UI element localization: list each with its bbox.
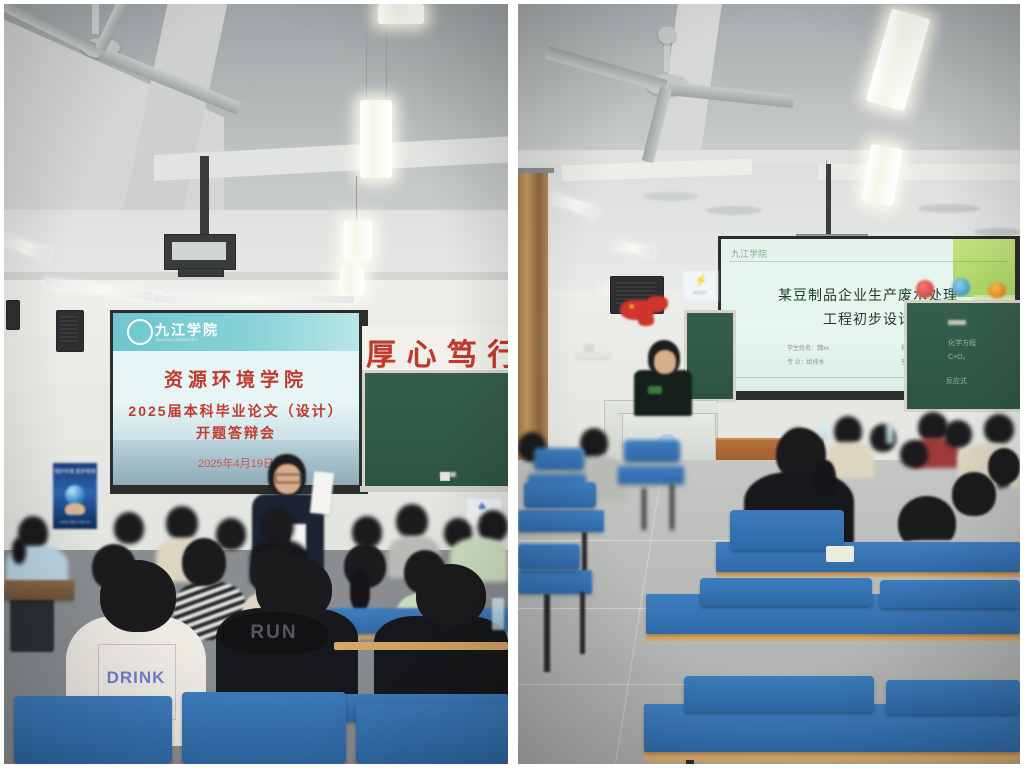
fan-hub-right-top	[658, 26, 676, 44]
projector-pole-right	[826, 164, 831, 238]
sticker-cartoon-orange	[988, 282, 1006, 298]
ceiling-beam-r4	[818, 164, 1020, 180]
r-desk-far-3	[518, 510, 604, 532]
r-desk-leg-1	[670, 484, 674, 530]
hanging-tube-light-1	[360, 100, 392, 178]
r-desk-far-2	[618, 466, 684, 484]
fan-rod	[92, 4, 99, 34]
window-curtain	[518, 170, 548, 460]
r-chair-far-3	[524, 482, 596, 508]
projector-lens-panel	[172, 242, 226, 260]
chair-front-3	[356, 704, 508, 764]
slide-right-meta-l1: 学生姓名：魏xx	[787, 343, 829, 352]
cap-text: RUN	[220, 622, 328, 644]
blackboard-chalk-text: ·	[372, 424, 374, 431]
china-map-east	[646, 296, 668, 312]
china-map-south	[638, 314, 654, 326]
r-audience-head-7	[944, 420, 972, 448]
audience-head-far-5	[260, 508, 294, 544]
audience-head-far-2	[114, 512, 144, 544]
blackboard-chalk-right-1: 化学方程	[948, 338, 976, 348]
slide-right-rule-top	[729, 261, 1007, 262]
r-chair-near-2b	[880, 580, 1020, 608]
hanging-tube-light-3	[340, 266, 364, 294]
shelf-cup	[584, 344, 594, 353]
slide-logo-subtext: JIUJIANG UNIVERSITY	[155, 337, 198, 342]
speaker-grill-left	[60, 316, 78, 344]
distant-fan-2	[706, 206, 762, 215]
r-audience-head-mid-3	[952, 472, 996, 516]
poster-url: www.hjbh.edu.cn	[53, 519, 97, 524]
projector-pole	[200, 156, 209, 234]
r-desk-leg-2	[642, 488, 646, 530]
light-wire-3	[356, 176, 357, 224]
jacket-text-line1: DRINK	[98, 668, 174, 688]
slide-logo-mark	[127, 319, 153, 345]
poster-title: 保护环境 爱护地球	[53, 468, 97, 475]
projector-mount-foot	[178, 268, 224, 277]
r-chair-far-2	[624, 440, 680, 462]
r-desk-far-4	[518, 570, 592, 594]
audience-head-front-right	[416, 564, 486, 626]
desk-edge-front-1	[334, 642, 508, 650]
light-wire-1	[366, 4, 367, 100]
audience-head-mid-2	[182, 538, 226, 586]
blackboard-eraser-right	[948, 320, 966, 325]
poster-hands	[65, 503, 85, 515]
side-desk-left	[4, 580, 74, 600]
blackboard-chalk-right-2: C+O₂	[948, 354, 965, 361]
audience-body-front-right	[374, 616, 508, 702]
sports-poster-mark: ⚡	[694, 274, 708, 287]
slide-line2: 2025届本科毕业论文（设计）	[113, 401, 359, 421]
slide-right-meta-l2: 专 业：给排水	[787, 357, 825, 366]
projection-screen: 九江学院 JIUJIANG UNIVERSITY 资源环境学院 2025届本科毕…	[113, 313, 359, 485]
wall-shelf	[576, 352, 610, 358]
blackboard-chalk-right-3: 反应式	[946, 376, 967, 386]
collage-canvas: 九江学院 JIUJIANG UNIVERSITY 资源环境学院 2025届本科毕…	[0, 0, 1024, 768]
audience-head-far-3	[166, 506, 198, 540]
speaker-box-left-2	[6, 300, 20, 330]
r-chair-far-4	[518, 544, 580, 570]
tissue-pack	[826, 546, 854, 562]
r-audience-head-mid-4	[988, 448, 1020, 484]
blackboard-left-panel	[362, 370, 508, 492]
left-photo-panel: 九江学院 JIUJIANG UNIVERSITY 资源环境学院 2025届本科毕…	[4, 4, 508, 764]
panel-divider	[508, 0, 518, 768]
sports-poster: ⚡ SPORT	[682, 270, 718, 302]
chair-front-1	[14, 696, 172, 764]
r-bottle-2	[886, 424, 894, 444]
china-map-decor: ★	[616, 292, 670, 328]
right-photo-panel: 九江学院 某豆制品企业生产废水处理 工程初步设计 学生姓名：魏xx 专 业：给排…	[518, 4, 1020, 764]
audience-ponytail-1	[12, 538, 26, 564]
distant-fan-4	[974, 228, 1020, 236]
hanging-tube-light-2	[344, 220, 372, 260]
audience-head-far-7	[396, 504, 428, 538]
poster-globe	[65, 485, 85, 505]
side-bag	[10, 598, 54, 652]
slide-title: 资源环境学院	[113, 365, 359, 392]
wall-outlet	[440, 472, 450, 481]
slide-date: 2025年4月19日	[113, 455, 359, 471]
r-chair-near-2a	[700, 578, 872, 606]
sticker-cartoon-blue	[952, 278, 970, 296]
sports-poster-text: SPORT	[683, 290, 717, 295]
r-chair-near-3a	[684, 676, 874, 712]
board-tray	[360, 486, 508, 492]
r-audience-head-8	[984, 414, 1014, 444]
calligraphy-text: 厚 心 笃 行	[366, 330, 508, 374]
r-chair-near-3b	[886, 680, 1020, 714]
r-audience-head-9	[900, 440, 928, 468]
presenter-face-right	[654, 350, 676, 374]
china-map-star: ★	[628, 302, 635, 311]
hanging-tube-light-0	[378, 4, 424, 24]
slide-left: 九江学院 JIUJIANG UNIVERSITY 资源环境学院 2025届本科毕…	[113, 313, 359, 485]
distant-fan-3	[918, 204, 980, 213]
audience-ponytail-2	[350, 570, 370, 612]
water-bottle-left	[492, 598, 504, 630]
presenter-shirt-logo	[648, 386, 662, 394]
curtain-rod	[518, 168, 554, 173]
environment-poster: 保护环境 爱护地球 www.hjbh.edu.cn	[52, 462, 98, 530]
r-ponytail-mid	[814, 460, 836, 500]
sticker-cartoon-red	[916, 280, 934, 298]
ceiling-right	[518, 4, 1020, 174]
r-desk-leg-4	[544, 594, 550, 672]
ceiling-tube-strip-2	[154, 296, 354, 303]
audience-head-front-white	[100, 560, 176, 632]
r-desk-leg-near-1	[686, 760, 694, 764]
presenter-shirt-right	[634, 370, 692, 416]
r-chair-near-1	[730, 510, 844, 550]
r-chair-far-1	[534, 448, 584, 470]
r-desk-leg-5	[580, 592, 585, 654]
slide-right-logo: 九江学院	[731, 247, 767, 260]
chair-front-2	[182, 692, 346, 764]
distant-fan-1	[644, 192, 698, 201]
presenter-glasses-left	[275, 474, 301, 483]
